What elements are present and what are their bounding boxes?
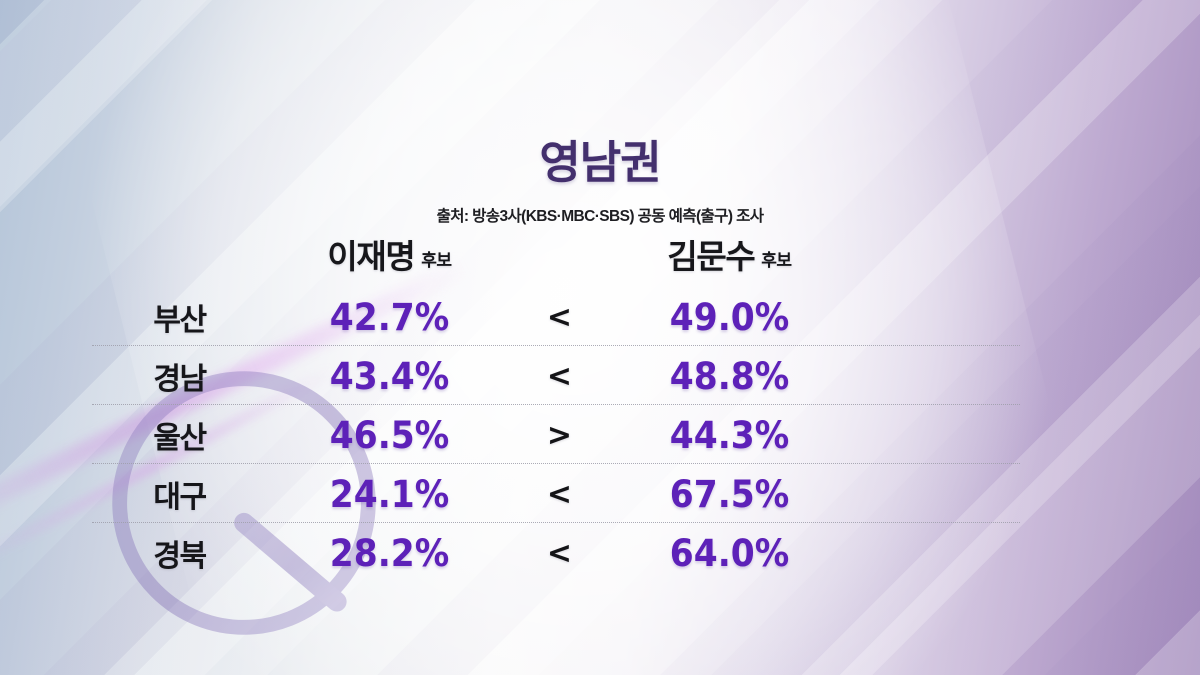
candidate-header-lee: 이재명후보 (327, 255, 451, 272)
table-row: 울산 46.5% > 44.3% (92, 410, 1020, 460)
candidate-name: 이재명 (327, 238, 414, 275)
table-row: 부산 42.7% < 49.0% (92, 292, 1020, 342)
row-comparator: > (512, 418, 607, 453)
row-region-label: 경북 (92, 531, 267, 575)
row-value-kim: 44.3% (616, 414, 844, 457)
table-row: 경북 28.2% < 64.0% (92, 528, 1020, 578)
candidate-name: 김문수 (667, 238, 754, 275)
row-comparator: < (512, 300, 607, 335)
row-value-kim: 49.0% (616, 296, 844, 339)
row-value-lee: 46.5% (276, 414, 504, 457)
source-note: 출처: 방송3사(KBS·MBC·SBS) 공동 예측(출구) 조사 (0, 204, 1200, 226)
row-comparator: < (512, 536, 607, 571)
row-value-lee: 42.7% (276, 296, 504, 339)
row-comparator: < (512, 359, 607, 394)
row-region-label: 울산 (92, 413, 267, 457)
row-value-kim: 48.8% (616, 355, 844, 398)
table-row: 대구 24.1% < 67.5% (92, 469, 1020, 519)
candidate-header-row: 이재명후보 김문수후보 (92, 230, 1020, 276)
row-divider (92, 404, 1020, 405)
candidate-suffix: 후보 (761, 251, 791, 270)
row-divider (92, 345, 1020, 346)
row-value-kim: 67.5% (616, 473, 844, 516)
candidate-header-kim: 김문수후보 (667, 255, 791, 272)
row-comparator: < (512, 477, 607, 512)
candidate-suffix: 후보 (421, 251, 451, 270)
row-divider (92, 463, 1020, 464)
row-region-label: 경남 (92, 354, 267, 398)
row-region-label: 대구 (92, 472, 267, 516)
row-value-lee: 28.2% (276, 532, 504, 575)
row-value-kim: 64.0% (616, 532, 844, 575)
table-row: 경남 43.4% < 48.8% (92, 351, 1020, 401)
row-value-lee: 43.4% (276, 355, 504, 398)
row-region-label: 부산 (92, 295, 267, 339)
row-divider (92, 522, 1020, 523)
row-value-lee: 24.1% (276, 473, 504, 516)
broadcast-graphic: 영남권 출처: 방송3사(KBS·MBC·SBS) 공동 예측(출구) 조사 이… (0, 0, 1200, 675)
page-title: 영남권 (0, 126, 1200, 191)
